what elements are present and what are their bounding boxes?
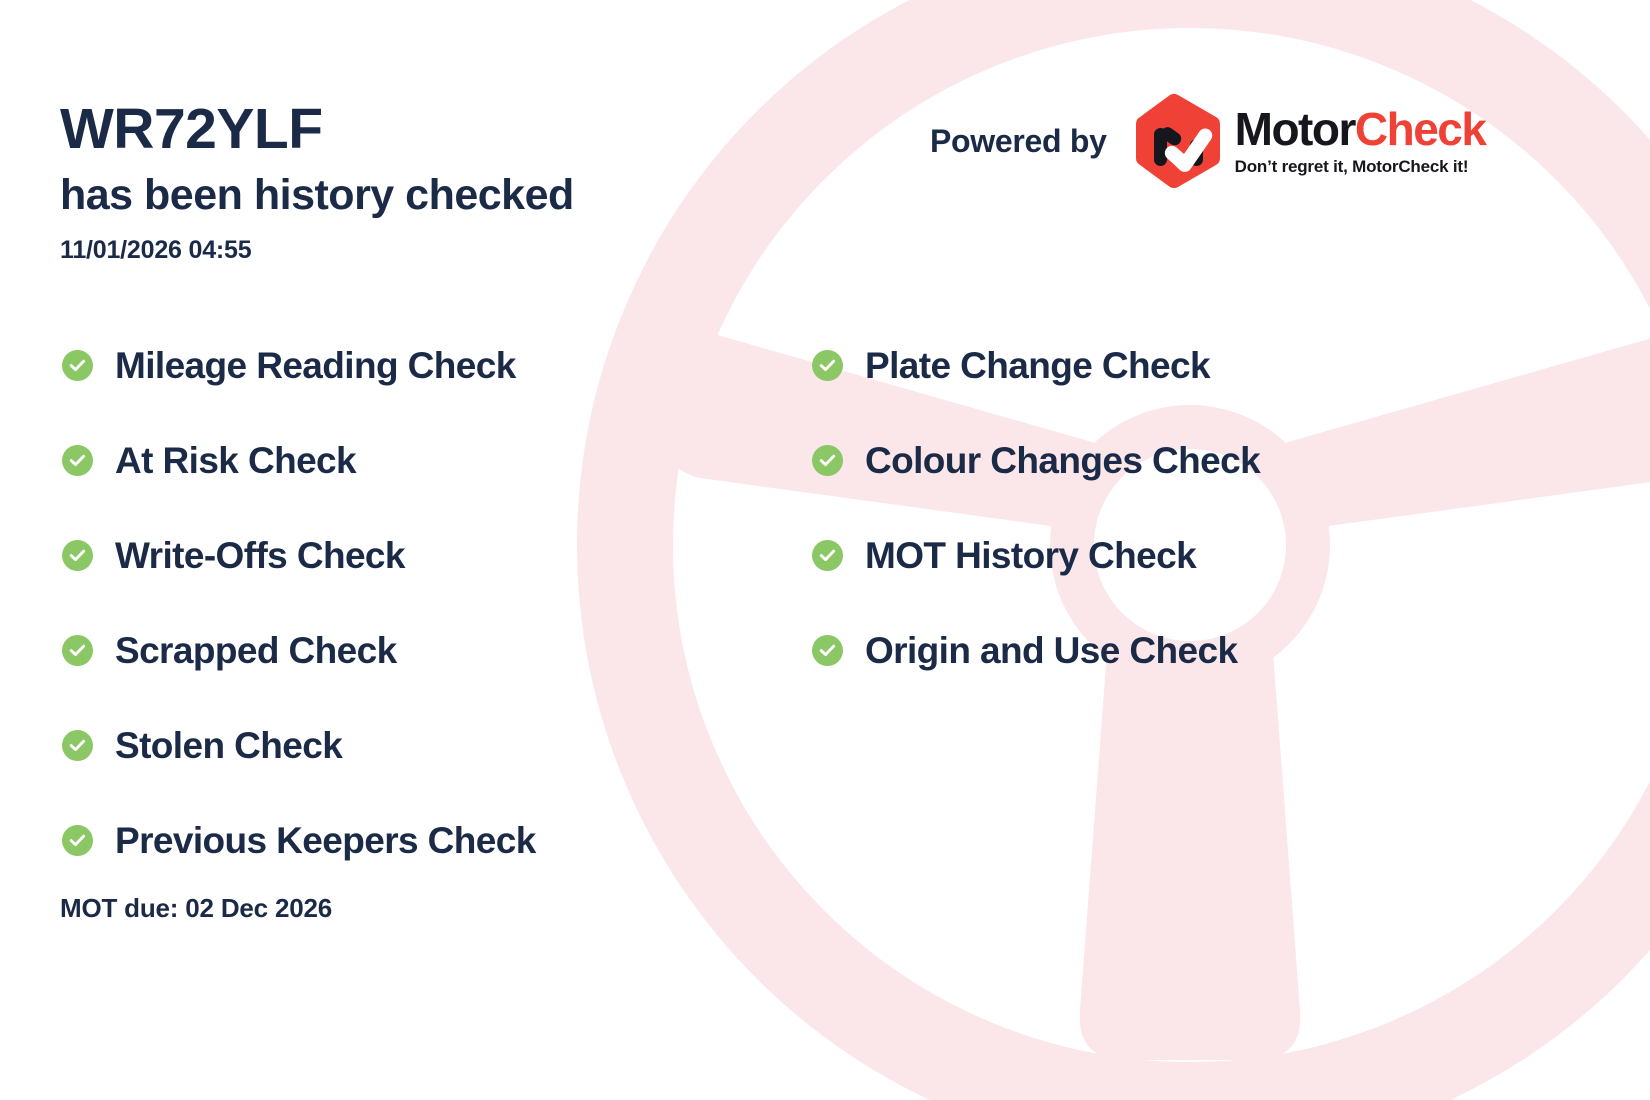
motorcheck-logo[interactable]: MotorCheck Don’t regret it, MotorCheck i… xyxy=(1133,93,1486,189)
check-circle-icon xyxy=(62,635,93,666)
page-title-registration: WR72YLF xyxy=(60,100,323,160)
check-circle-icon xyxy=(812,635,843,666)
card-content: WR72YLF has been history checked 11/01/2… xyxy=(0,0,1650,1100)
list-item: Colour Changes Check xyxy=(812,413,1260,508)
vehicle-history-check-card: WR72YLF has been history checked 11/01/2… xyxy=(0,0,1650,1100)
check-circle-icon xyxy=(62,825,93,856)
motorcheck-tagline: Don’t regret it, MotorCheck it! xyxy=(1235,157,1486,177)
list-item: Mileage Reading Check xyxy=(62,318,536,413)
check-circle-icon xyxy=(812,540,843,571)
check-label: MOT History Check xyxy=(865,537,1196,574)
check-label: Origin and Use Check xyxy=(865,632,1238,669)
list-item: Write-Offs Check xyxy=(62,508,536,603)
check-label: Colour Changes Check xyxy=(865,442,1260,479)
wordmark-motor: Motor xyxy=(1235,103,1355,155)
list-item: At Risk Check xyxy=(62,413,536,508)
checks-left-column: Mileage Reading Check At Risk Check Writ… xyxy=(62,318,536,888)
check-label: Scrapped Check xyxy=(115,632,397,669)
list-item: Scrapped Check xyxy=(62,603,536,698)
check-label: Write-Offs Check xyxy=(115,537,405,574)
list-item: Plate Change Check xyxy=(812,318,1260,413)
list-item: MOT History Check xyxy=(812,508,1260,603)
powered-by-label: Powered by xyxy=(930,123,1107,160)
check-circle-icon xyxy=(62,540,93,571)
check-label: Stolen Check xyxy=(115,727,342,764)
checks-right-column: Plate Change Check Colour Changes Check … xyxy=(812,318,1260,698)
check-label: Mileage Reading Check xyxy=(115,347,516,384)
list-item: Origin and Use Check xyxy=(812,603,1260,698)
check-label: At Risk Check xyxy=(115,442,356,479)
check-circle-icon xyxy=(62,730,93,761)
check-label: Previous Keepers Check xyxy=(115,822,536,859)
motorcheck-hexagon-logo-icon xyxy=(1133,93,1223,189)
check-label: Plate Change Check xyxy=(865,347,1210,384)
powered-by-row: Powered by MotorCheck Don’t regret it, M… xyxy=(930,100,1485,182)
motorcheck-wordmark-text: MotorCheck xyxy=(1235,106,1486,152)
check-circle-icon xyxy=(812,350,843,381)
motorcheck-wordmark: MotorCheck Don’t regret it, MotorCheck i… xyxy=(1235,106,1486,177)
check-circle-icon xyxy=(62,350,93,381)
list-item: Previous Keepers Check xyxy=(62,793,536,888)
mot-due-date: MOT due: 02 Dec 2026 xyxy=(60,893,332,924)
check-circle-icon xyxy=(812,445,843,476)
list-item: Stolen Check xyxy=(62,698,536,793)
wordmark-check: Check xyxy=(1355,103,1486,155)
check-circle-icon xyxy=(62,445,93,476)
check-timestamp: 11/01/2026 04:55 xyxy=(60,236,251,265)
page-subtitle: has been history checked xyxy=(60,172,574,219)
